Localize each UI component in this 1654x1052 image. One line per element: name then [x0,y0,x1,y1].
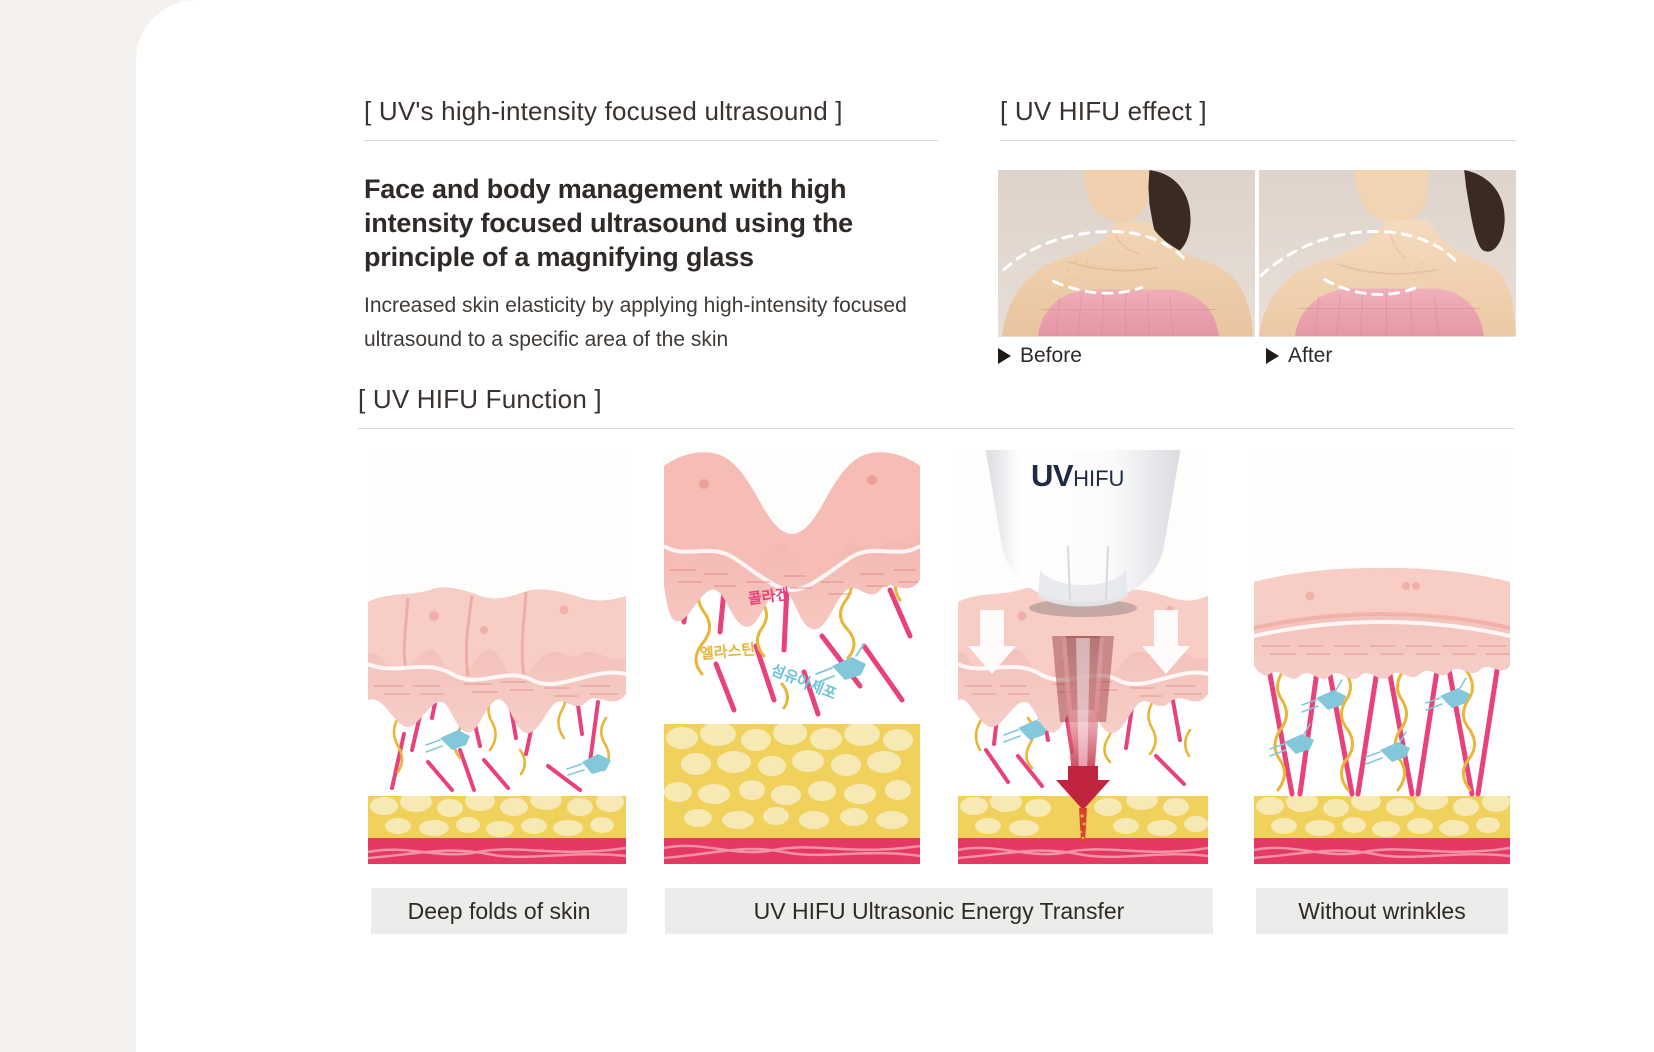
function-section-divider [358,428,1514,429]
before-after-captions: Before After [998,344,1518,368]
page-root: [ UV's high-intensity focused ultrasound… [0,0,1654,1052]
content-card: [ UV's high-intensity focused ultrasound… [136,0,1654,1052]
device-logo: UV HIFU [1031,458,1124,494]
panel-deep-folds [368,450,626,864]
logo-uv: UV [1031,458,1073,494]
logo-hifu: HIFU [1073,466,1124,492]
before-caption: Before [998,344,1266,368]
before-after-gallery [998,170,1516,337]
after-photo [1259,170,1516,337]
headline: Face and body management with high inten… [364,172,924,274]
before-photo [998,170,1255,337]
right-section-divider [1000,140,1516,141]
lead-paragraph: Increased skin elasticity by applying hi… [364,289,934,357]
panel-energy-transfer: UV HIFU [958,450,1208,864]
play-triangle-icon [1266,348,1279,364]
panel-without-wrinkles [1254,450,1510,864]
after-label: After [1288,344,1332,368]
left-section-title: [ UV's high-intensity focused ultrasound… [364,96,843,127]
panel-captions: Deep folds of skin UV HIFU Ultrasonic En… [368,888,1514,934]
after-caption: After [1266,344,1332,368]
play-triangle-icon [998,348,1011,364]
skin-diagram-panels: 콜라겐 엘라스틴 섬유아세포 [368,450,1514,864]
caption-deep-folds: Deep folds of skin [371,888,627,934]
left-section-divider [364,140,938,141]
right-section-title: [ UV HIFU effect ] [1000,96,1207,127]
caption-without-wrinkles: Without wrinkles [1256,888,1508,934]
before-label: Before [1020,344,1082,368]
function-section-title: [ UV HIFU Function ] [358,384,602,415]
panel-tissue-labels: 콜라겐 엘라스틴 섬유아세포 [664,450,920,864]
caption-energy-transfer: UV HIFU Ultrasonic Energy Transfer [665,888,1213,934]
